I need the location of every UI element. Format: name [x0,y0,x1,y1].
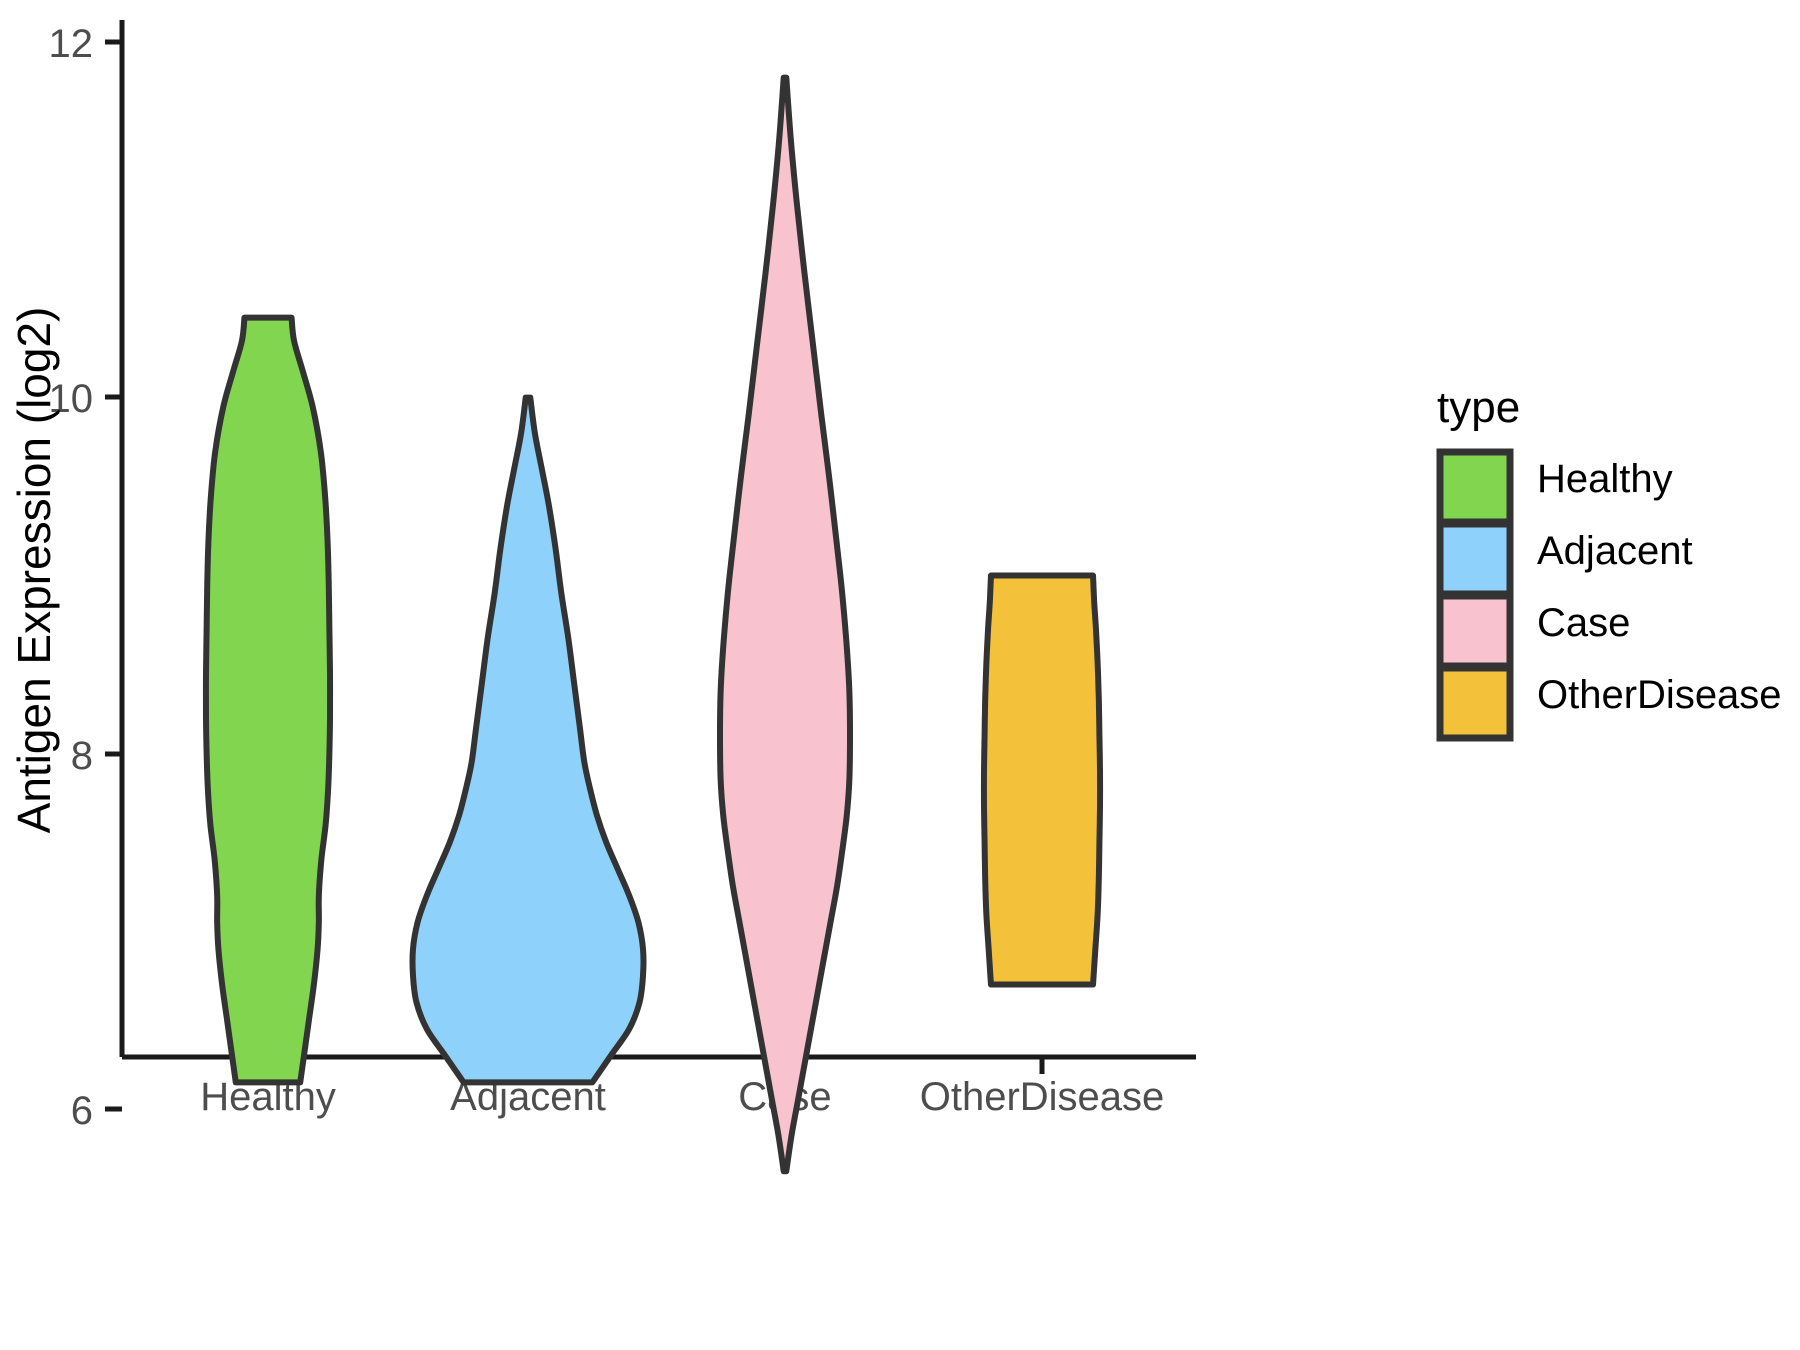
legend-title: type [1437,383,1520,432]
legend-label-adjacent: Adjacent [1537,529,1693,573]
violin-plot-figure: 12 10 8 6 Antigen Expression (log2) Heal… [0,0,1800,1350]
y-tick-label-12: 12 [49,22,94,66]
legend-label-case: Case [1537,601,1630,645]
violin-otherdisease[interactable] [984,576,1100,985]
legend-key-adjacent[interactable] [1440,524,1510,594]
y-tick-label-8: 8 [71,734,93,778]
y-tick-label-6: 6 [71,1089,93,1133]
y-axis-title: Antigen Expression (log2) [8,307,60,834]
legend-label-otherdisease: OtherDisease [1537,673,1782,717]
legend-key-otherdisease[interactable] [1440,668,1510,738]
legend-key-case[interactable] [1440,596,1510,666]
legend-label-healthy: Healthy [1537,457,1673,501]
legend-key-healthy[interactable] [1440,452,1510,522]
x-tick-label-otherdisease: OtherDisease [920,1075,1165,1119]
violin-healthy[interactable] [206,318,330,1083]
plot-canvas: 12 10 8 6 Antigen Expression (log2) Heal… [0,0,1800,1350]
